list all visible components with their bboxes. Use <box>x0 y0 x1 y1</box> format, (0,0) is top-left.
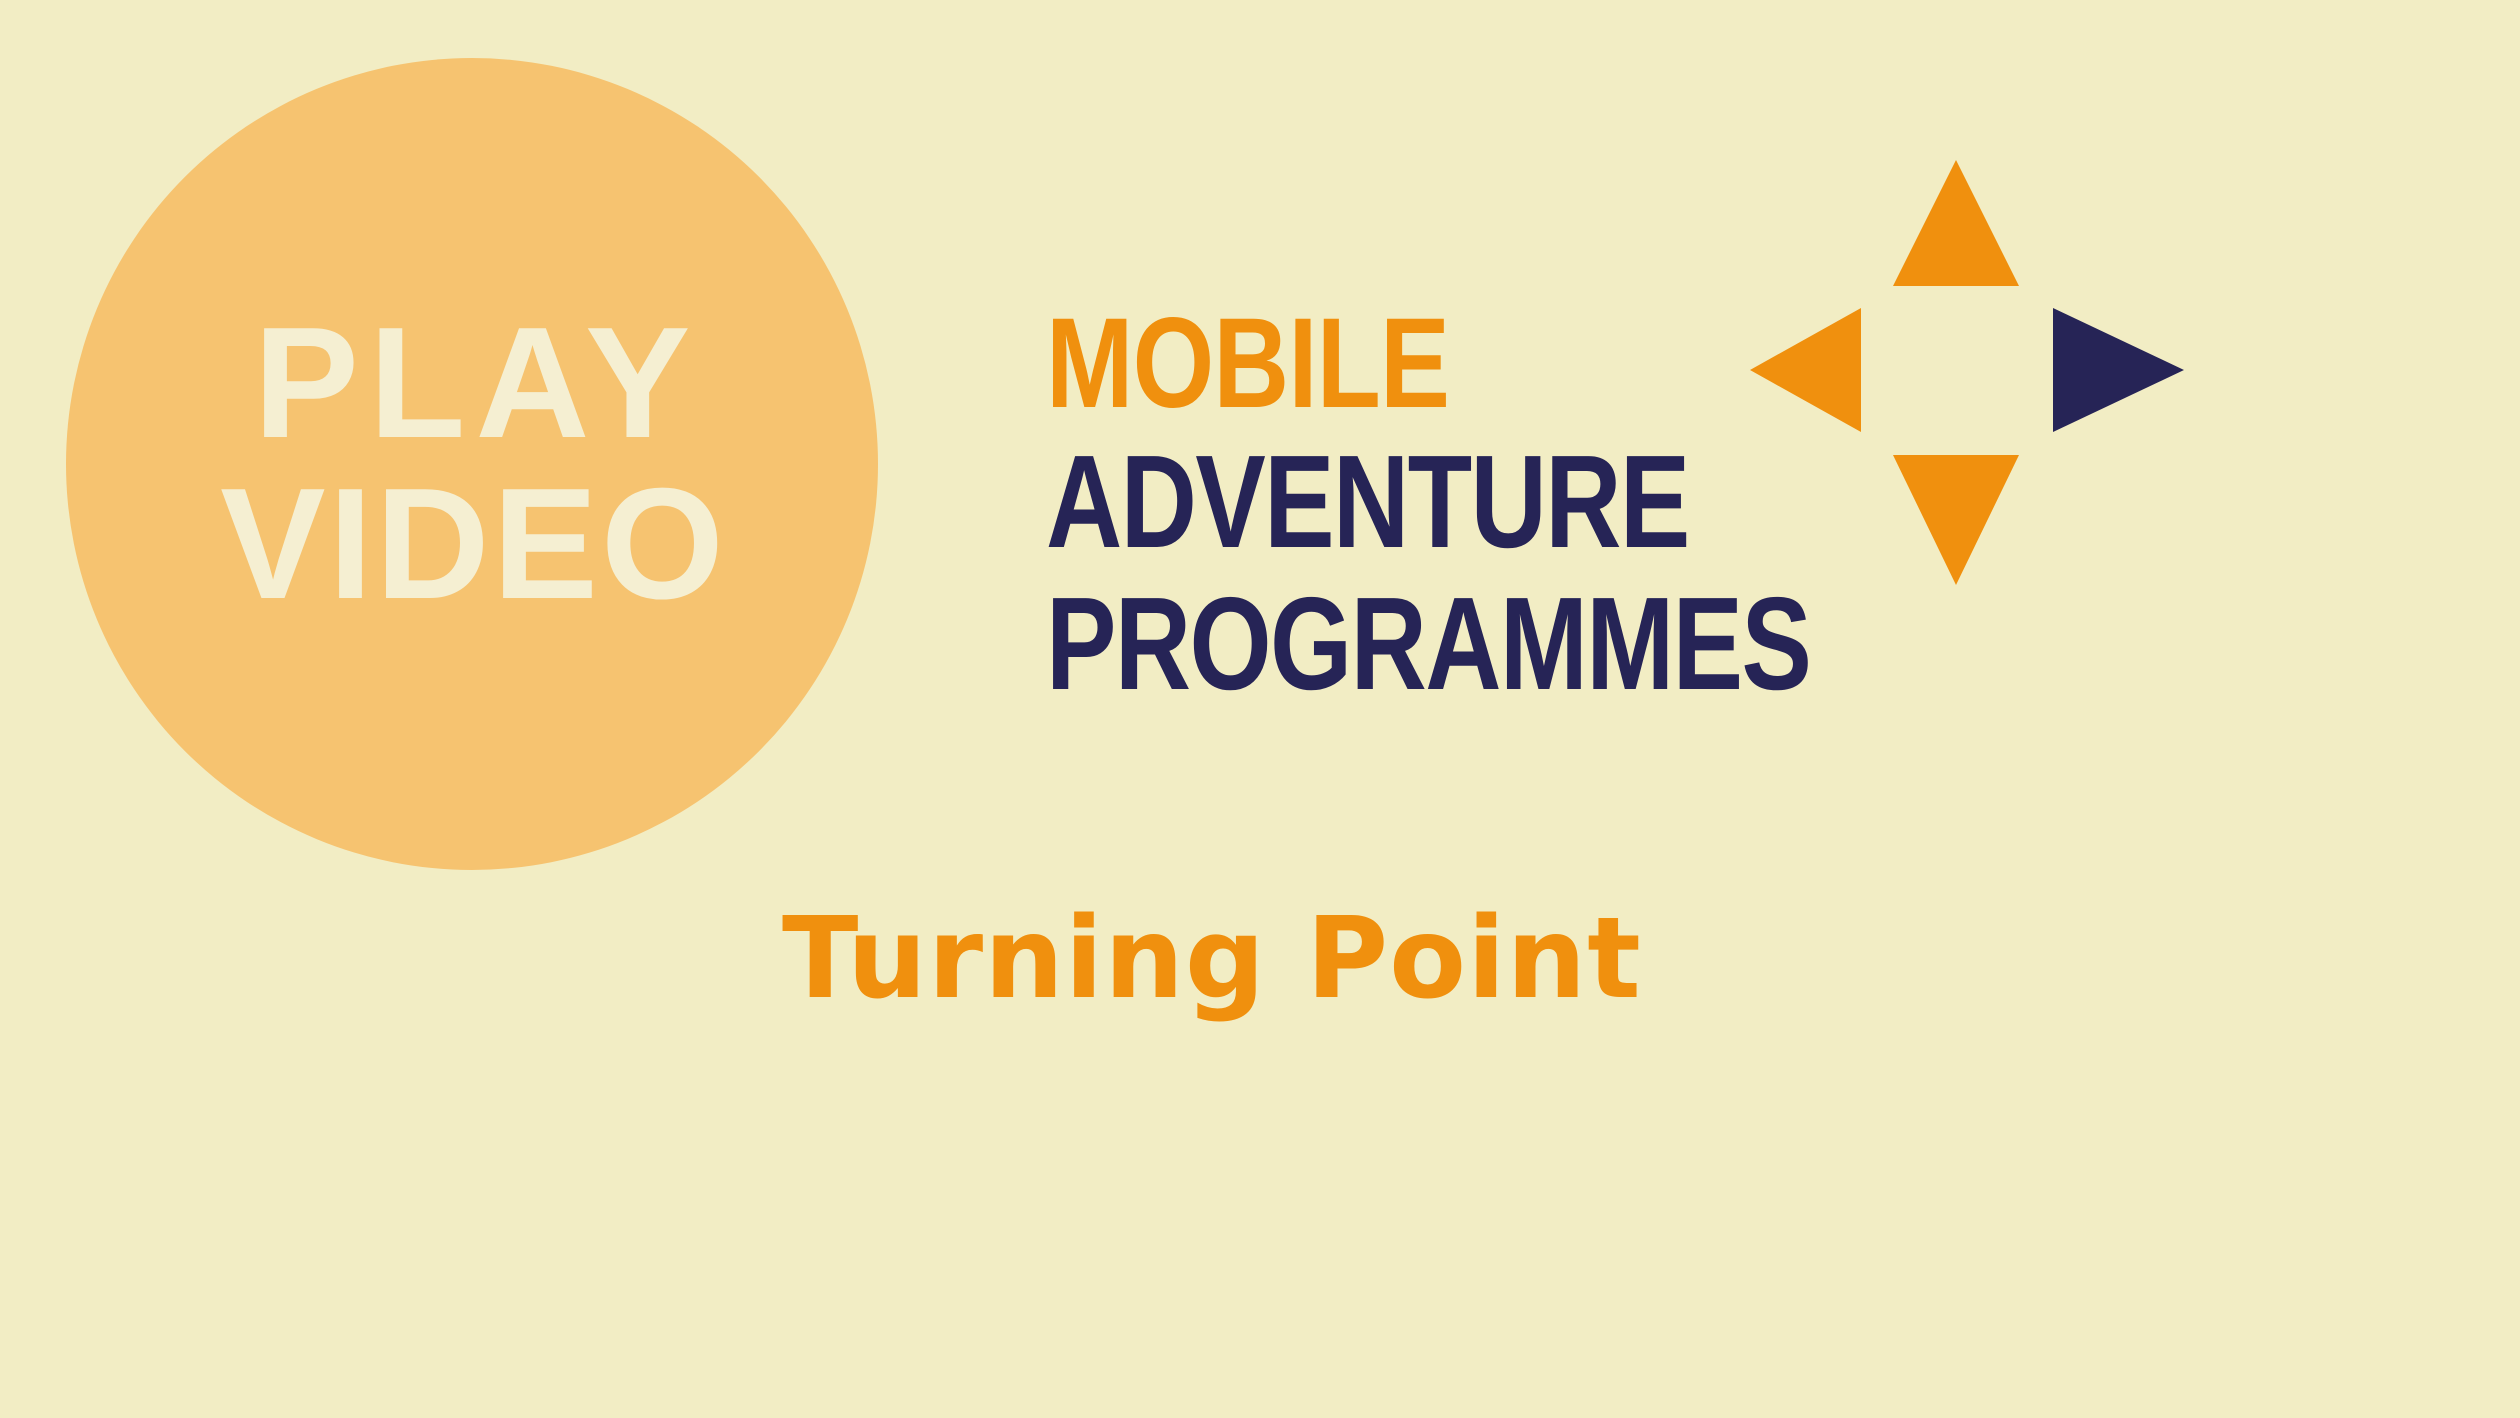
brand-word-programmes: PROGRAMMES <box>1046 578 1810 710</box>
video-thumbnail-card: PLAY VIDEO MOBILE ADVENTURE PROGRAMMES T… <box>0 0 2520 1418</box>
play-video-label-line-2: VIDEO <box>217 467 727 622</box>
triangle-left-icon <box>1750 308 1861 432</box>
triangle-up-icon <box>1893 160 2019 286</box>
compass-mark <box>1745 150 2190 595</box>
triangle-right-icon <box>2053 308 2184 432</box>
play-video-button[interactable]: PLAY VIDEO <box>66 58 878 870</box>
play-video-label-line-1: PLAY <box>244 306 701 461</box>
brand-word-mobile: MOBILE <box>1046 300 1449 428</box>
brand-word-adventure: ADVENTURE <box>1046 436 1689 568</box>
episode-title: Turning Point <box>782 898 1642 1021</box>
triangle-down-icon <box>1893 455 2019 585</box>
